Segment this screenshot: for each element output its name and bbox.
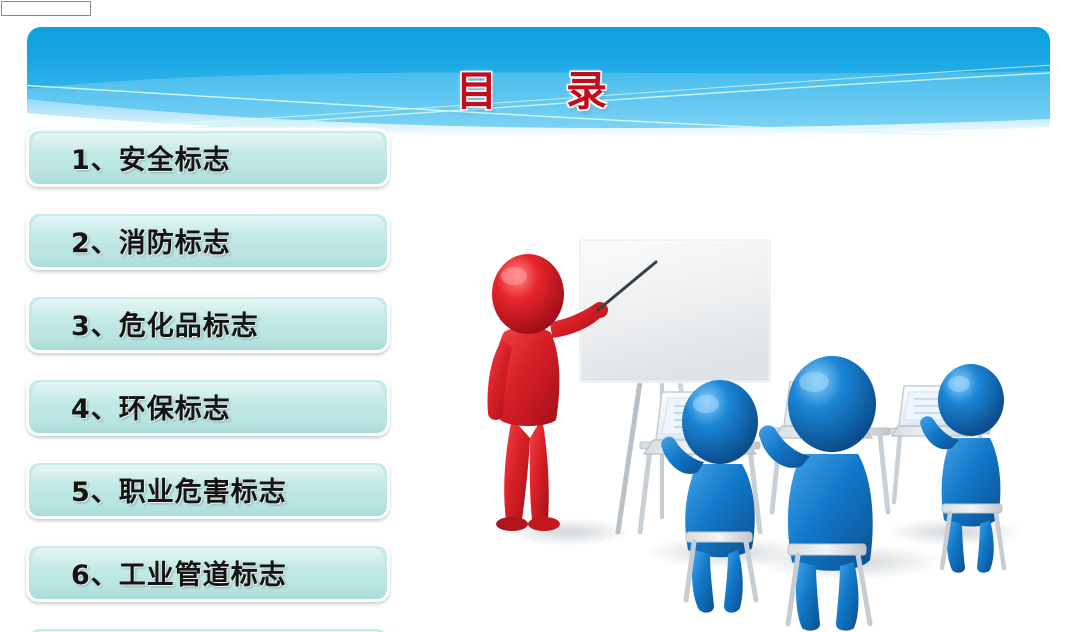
blue-student-figure-2 (759, 356, 876, 631)
toc-item-label: 4、环保标志 (29, 387, 231, 426)
toc-item-6[interactable]: 6、工业管道标志 (26, 543, 390, 602)
toc-item-label: 6、工业管道标志 (29, 553, 287, 592)
whiteboard-surface (580, 240, 770, 382)
toc-item-1[interactable]: 1、安全标志 (26, 128, 390, 187)
toc-item-4[interactable]: 4、环保标志 (26, 377, 390, 436)
student-head (682, 380, 758, 464)
presenter-head (492, 254, 564, 334)
page-title: 目 录 (27, 57, 1050, 117)
toc-item-label: 1、安全标志 (29, 138, 231, 177)
toc-item-5[interactable]: 5、职业危害标志 (26, 460, 390, 519)
toc-list: 1、安全标志 2、消防标志 3、危化品标志 4、环保标志 5、职业危害标志 6、… (26, 128, 392, 632)
toc-item-label: 3、危化品标志 (29, 304, 259, 343)
toc-item-3[interactable]: 3、危化品标志 (26, 294, 390, 353)
classroom-training-illustration (450, 232, 1070, 632)
toc-item-2[interactable]: 2、消防标志 (26, 211, 390, 270)
toc-item-7-partial[interactable] (26, 626, 390, 632)
student-head (788, 356, 876, 452)
empty-textbox-artifact (1, 1, 91, 16)
toc-item-label: 2、消防标志 (29, 221, 231, 260)
student-head (938, 364, 1004, 436)
header-banner: 目 录 (27, 27, 1050, 135)
slide-canvas: 目 录 1、安全标志 2、消防标志 3、危化品标志 4、环保标志 5、职业危害标… (0, 0, 1080, 632)
toc-item-label: 5、职业危害标志 (29, 470, 287, 509)
